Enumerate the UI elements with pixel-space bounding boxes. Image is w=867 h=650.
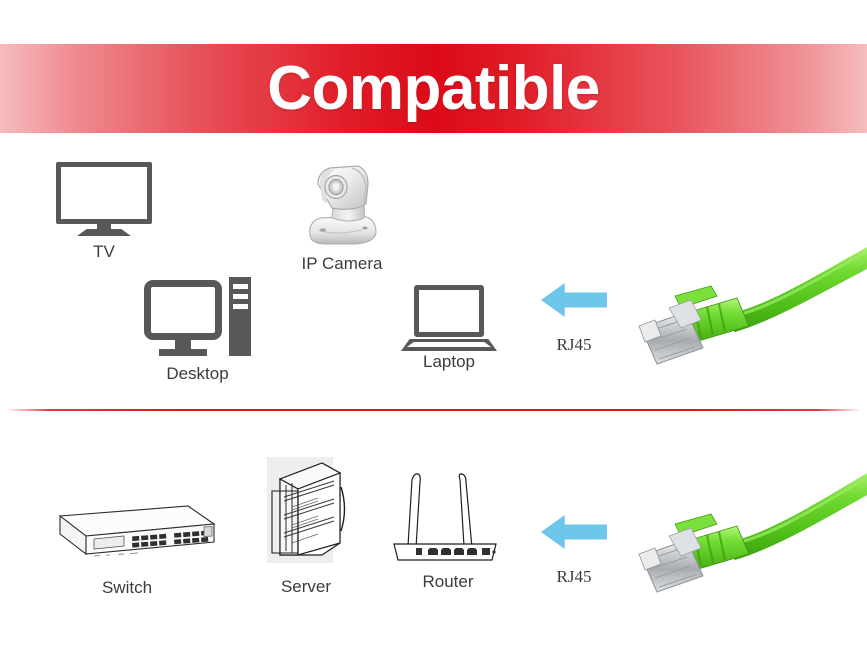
arrow-left-icon — [541, 515, 607, 549]
device-server: Server — [262, 457, 350, 597]
device-tv: TV — [56, 162, 152, 262]
device-label-ip-camera: IP Camera — [302, 254, 383, 274]
network-switch-icon — [38, 494, 216, 562]
wifi-router-art — [386, 460, 510, 566]
connector-label-top: RJ45 — [557, 335, 592, 355]
device-label-switch: Switch — [102, 578, 152, 598]
device-router: Router — [386, 460, 510, 592]
rj45-connector-top: RJ45 — [541, 283, 607, 355]
desktop-foot — [159, 349, 207, 356]
ip-camera-art — [296, 160, 388, 252]
device-label-router: Router — [422, 572, 473, 592]
section-divider — [8, 409, 859, 411]
device-laptop: Laptop — [401, 285, 497, 372]
compatibility-infographic: Compatible TV — [0, 0, 867, 650]
device-label-server: Server — [281, 577, 331, 597]
ip-camera-icon — [296, 160, 388, 252]
rj45-cable-icon-top — [625, 242, 867, 370]
device-label-desktop: Desktop — [166, 364, 228, 384]
desktop-computer-icon — [144, 277, 251, 356]
laptop-screen — [414, 285, 484, 337]
rj45-connector-bottom: RJ45 — [541, 515, 607, 587]
tv-neck — [97, 224, 111, 229]
rj45-cable-icon-bottom — [625, 462, 867, 598]
connector-label-bottom: RJ45 — [557, 567, 592, 587]
arrow-left-icon — [541, 283, 607, 317]
page-title: Compatible — [0, 44, 867, 133]
device-switch: Switch — [38, 494, 216, 598]
device-label-tv: TV — [93, 242, 115, 262]
wifi-router-icon — [386, 460, 510, 566]
device-ip-camera: IP Camera — [296, 160, 388, 274]
green-patch-cable-art — [625, 462, 867, 598]
tv-icon — [56, 162, 152, 236]
network-switch-art — [38, 494, 216, 562]
green-patch-cable-art — [625, 242, 867, 370]
tv-screen — [56, 162, 152, 224]
desktop-neck — [175, 340, 191, 349]
rj45-plug — [639, 300, 703, 364]
desktop-screen — [144, 280, 222, 340]
rj45-plug — [639, 528, 703, 592]
server-rack-icon — [262, 457, 350, 565]
desktop-monitor — [144, 280, 222, 356]
desktop-tower — [229, 277, 251, 356]
tower-slot — [233, 304, 248, 309]
tower-slot — [233, 284, 248, 289]
laptop-keyboard-gap — [407, 342, 491, 347]
header-banner: Compatible — [0, 44, 867, 133]
laptop-icon — [401, 285, 497, 356]
device-desktop: Desktop — [144, 277, 251, 384]
tower-slot — [233, 294, 248, 299]
tv-base — [77, 229, 131, 236]
server-rack-art — [262, 457, 350, 565]
